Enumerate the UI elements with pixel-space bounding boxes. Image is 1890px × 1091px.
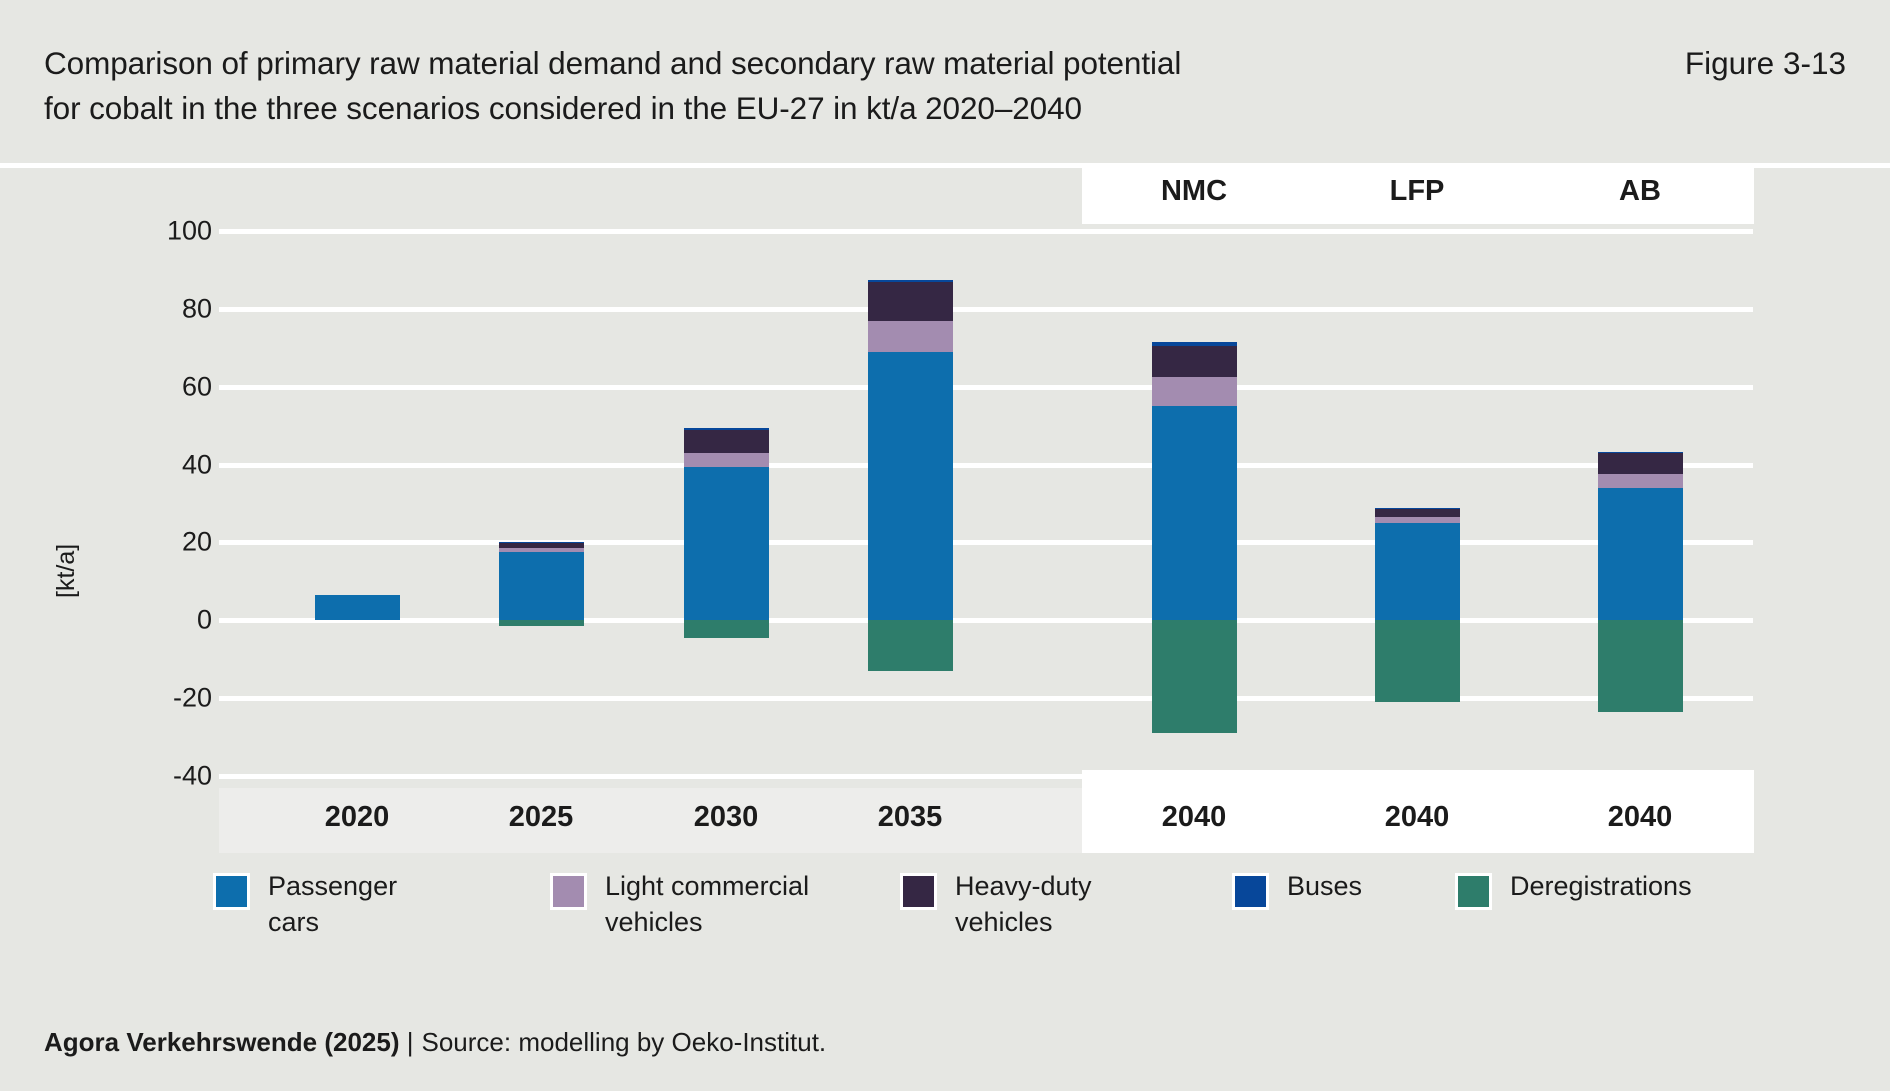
scenario-header-lfp: LFP bbox=[1305, 175, 1529, 208]
publisher-name: Agora Verkehrswende (2025) bbox=[44, 1027, 400, 1057]
y-axis-tick-label: 100 bbox=[52, 216, 212, 247]
bar-segment-deregistrations[interactable] bbox=[1375, 620, 1460, 702]
figure-header: Comparison of primary raw material deman… bbox=[0, 0, 1890, 163]
y-axis-tick-label: 80 bbox=[52, 293, 212, 324]
gridline bbox=[219, 307, 1753, 312]
y-axis-tick-label: 40 bbox=[52, 449, 212, 480]
legend-swatch-heavy-duty-vehicles bbox=[900, 873, 937, 910]
bar-stack[interactable] bbox=[868, 168, 953, 776]
bar-segment-deregistrations[interactable] bbox=[499, 620, 584, 626]
bar-segment-heavy-duty-vehicles[interactable] bbox=[499, 543, 584, 548]
bar-segment-light-commercial-vehicles[interactable] bbox=[1598, 474, 1683, 488]
bar-segment-passenger-cars[interactable] bbox=[868, 352, 953, 621]
legend-item[interactable]: Buses bbox=[1232, 868, 1362, 910]
legend-swatch-passenger-cars bbox=[213, 873, 250, 910]
legend-item[interactable]: Heavy-duty vehicles bbox=[900, 868, 1092, 940]
legend-item[interactable]: Light commercial vehicles bbox=[550, 868, 809, 940]
footer-separator-pipe: | bbox=[407, 1027, 414, 1057]
legend-label: Passenger cars bbox=[268, 868, 397, 940]
gridline bbox=[219, 463, 1753, 468]
source-line: Agora Verkehrswende (2025) |Source: mode… bbox=[44, 1027, 826, 1058]
legend-swatch-deregistrations bbox=[1455, 873, 1492, 910]
figure-footer: Agora Verkehrswende (2025) |Source: mode… bbox=[0, 1003, 1890, 1091]
bar-segment-passenger-cars[interactable] bbox=[684, 467, 769, 621]
bar-segment-passenger-cars[interactable] bbox=[1375, 523, 1460, 620]
chart-legend: Passenger carsLight commercial vehiclesH… bbox=[0, 868, 1890, 988]
bar-segment-heavy-duty-vehicles[interactable] bbox=[868, 282, 953, 321]
y-axis-tick-label: 60 bbox=[52, 371, 212, 402]
scenario-header-ab: AB bbox=[1528, 175, 1752, 208]
bar-segment-buses[interactable] bbox=[499, 542, 584, 543]
x-axis-tick-label: 2040 bbox=[1084, 801, 1304, 834]
bar-segment-heavy-duty-vehicles[interactable] bbox=[684, 430, 769, 453]
footer-separator bbox=[400, 1027, 407, 1057]
x-axis-tick-label: 2035 bbox=[800, 801, 1020, 834]
gridline bbox=[219, 696, 1753, 701]
gridline bbox=[219, 229, 1753, 234]
page-title: Comparison of primary raw material deman… bbox=[44, 41, 1464, 131]
bar-segment-deregistrations[interactable] bbox=[1152, 620, 1237, 733]
bar-segment-buses[interactable] bbox=[684, 428, 769, 429]
bar-segment-passenger-cars[interactable] bbox=[1598, 488, 1683, 620]
bar-segment-deregistrations[interactable] bbox=[1598, 620, 1683, 711]
bar-segment-heavy-duty-vehicles[interactable] bbox=[1152, 346, 1237, 377]
bar-stack[interactable] bbox=[1375, 168, 1460, 776]
bar-stack[interactable] bbox=[1152, 168, 1237, 776]
legend-label: Deregistrations bbox=[1510, 868, 1692, 904]
source-text: Source: modelling by Oeko-Institut. bbox=[422, 1027, 827, 1057]
legend-swatch-buses bbox=[1232, 873, 1269, 910]
bar-stack[interactable] bbox=[315, 168, 400, 776]
plot-area: 100806040200-20-40NMCLFPAB bbox=[0, 168, 1890, 788]
x-axis-tick-label: 2040 bbox=[1530, 801, 1750, 834]
figure-number: Figure 3-13 bbox=[1685, 41, 1846, 86]
x-axis: 2020202520302035204020402040 bbox=[0, 788, 1890, 853]
bar-segment-buses[interactable] bbox=[1152, 342, 1237, 346]
bar-stack[interactable] bbox=[684, 168, 769, 776]
y-axis-tick-label: -20 bbox=[52, 683, 212, 714]
bar-segment-light-commercial-vehicles[interactable] bbox=[1375, 517, 1460, 523]
legend-item[interactable]: Deregistrations bbox=[1455, 868, 1692, 910]
figure-container: Comparison of primary raw material deman… bbox=[0, 0, 1890, 1091]
y-axis-tick-label: 0 bbox=[52, 605, 212, 636]
bar-segment-buses[interactable] bbox=[868, 280, 953, 281]
bar-segment-deregistrations[interactable] bbox=[868, 620, 953, 671]
bar-segment-passenger-cars[interactable] bbox=[1152, 406, 1237, 620]
bar-stack[interactable] bbox=[1598, 168, 1683, 776]
gridline bbox=[219, 618, 1753, 623]
x-axis-tick-label: 2040 bbox=[1307, 801, 1527, 834]
gridline bbox=[219, 774, 1753, 779]
bar-segment-passenger-cars[interactable] bbox=[499, 552, 584, 620]
gridline bbox=[219, 385, 1753, 390]
bar-segment-passenger-cars[interactable] bbox=[315, 595, 400, 620]
legend-label: Buses bbox=[1287, 868, 1362, 904]
y-axis-tick-label: -40 bbox=[52, 761, 212, 792]
bar-segment-light-commercial-vehicles[interactable] bbox=[684, 453, 769, 467]
bar-segment-buses[interactable] bbox=[1598, 452, 1683, 453]
bar-segment-buses[interactable] bbox=[1375, 508, 1460, 509]
bar-segment-deregistrations[interactable] bbox=[684, 620, 769, 638]
scenario-header-nmc: NMC bbox=[1082, 175, 1306, 208]
bar-stack[interactable] bbox=[499, 168, 584, 776]
bar-segment-light-commercial-vehicles[interactable] bbox=[1152, 377, 1237, 406]
legend-item[interactable]: Passenger cars bbox=[213, 868, 397, 940]
legend-label: Heavy-duty vehicles bbox=[955, 868, 1092, 940]
bar-segment-light-commercial-vehicles[interactable] bbox=[868, 321, 953, 352]
bar-segment-heavy-duty-vehicles[interactable] bbox=[1598, 453, 1683, 474]
legend-swatch-light-commercial-vehicles bbox=[550, 873, 587, 910]
legend-label: Light commercial vehicles bbox=[605, 868, 809, 940]
bar-segment-heavy-duty-vehicles[interactable] bbox=[1375, 509, 1460, 517]
chart-panel: 100806040200-20-40NMCLFPAB [kt/a] 202020… bbox=[0, 168, 1890, 1003]
bar-segment-light-commercial-vehicles[interactable] bbox=[499, 548, 584, 552]
gridline bbox=[219, 540, 1753, 545]
y-axis-label: [kt/a] bbox=[52, 544, 81, 598]
